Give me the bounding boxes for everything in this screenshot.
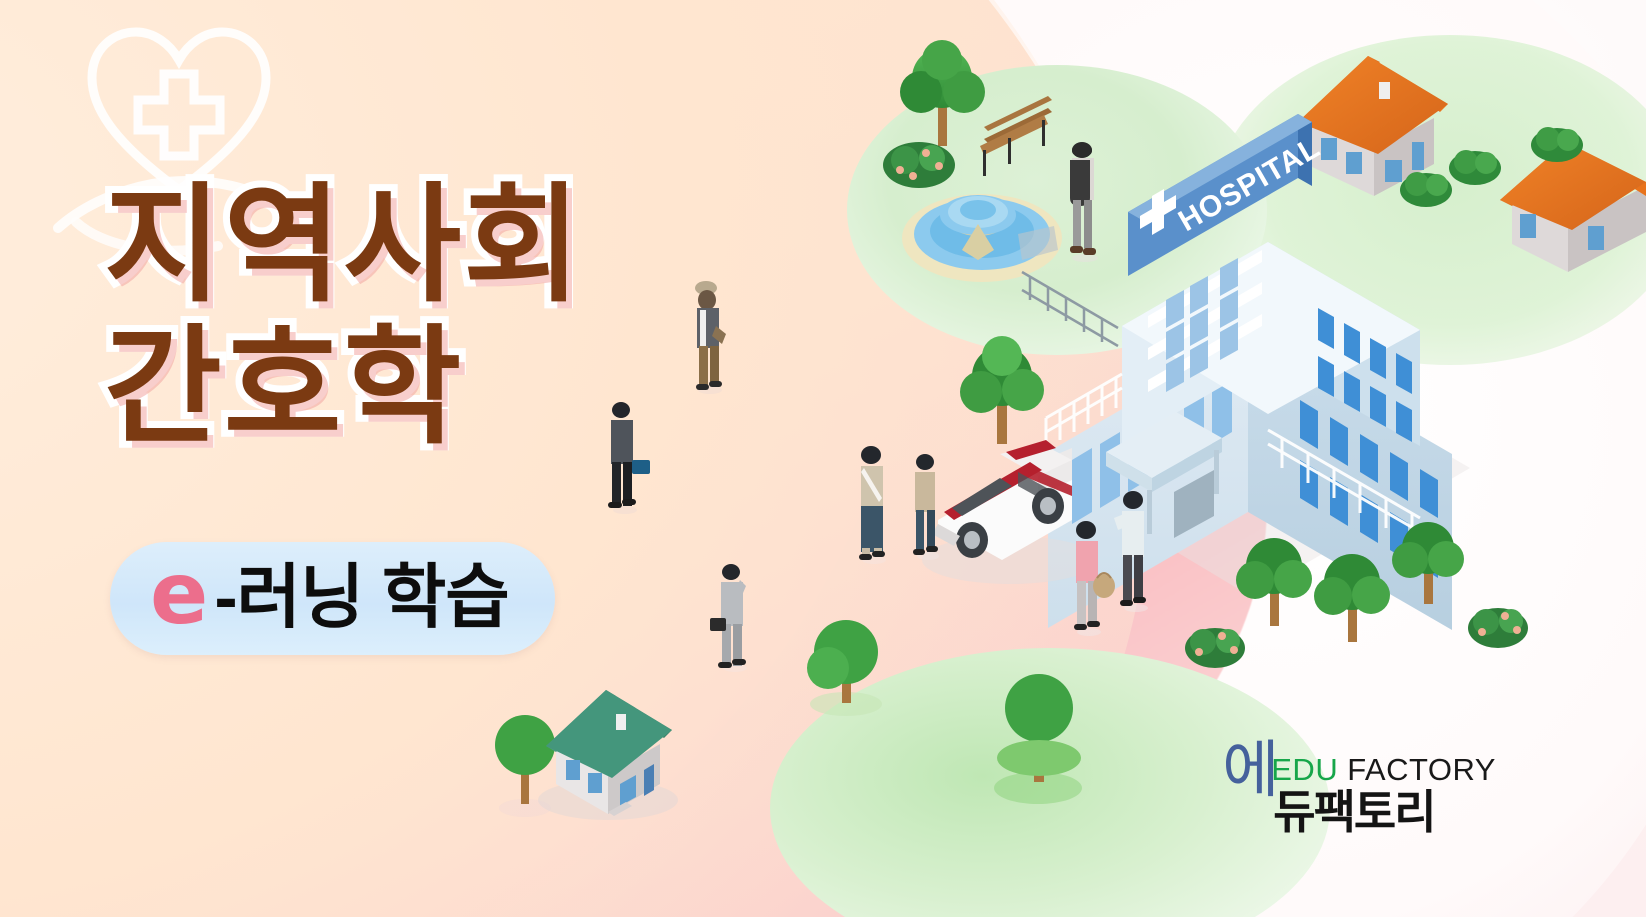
logo-edu-text: EDU (1271, 752, 1338, 787)
logo-korean-mark: 에 (1222, 742, 1275, 801)
badge-label: -러닝 학습 (214, 562, 508, 632)
title-line-1: 지역사회 (104, 178, 583, 314)
lawn-park (847, 65, 1267, 355)
badge-e-letter: e (150, 556, 208, 633)
edu-factory-logo[interactable]: 에 EDUFACTORY 듀팩토리 (1222, 742, 1496, 835)
logo-korean-name: 듀팩토리 (1273, 789, 1496, 835)
elearning-badge[interactable]: e -러닝 학습 (110, 542, 555, 655)
logo-factory-text: FACTORY (1347, 752, 1496, 787)
title-line-2: 간호학 (104, 320, 583, 456)
logo-english: EDUFACTORY (1271, 754, 1496, 785)
course-banner: HOSPITAL (0, 0, 1646, 917)
banner-title: 지역사회 간호학 (104, 178, 583, 455)
